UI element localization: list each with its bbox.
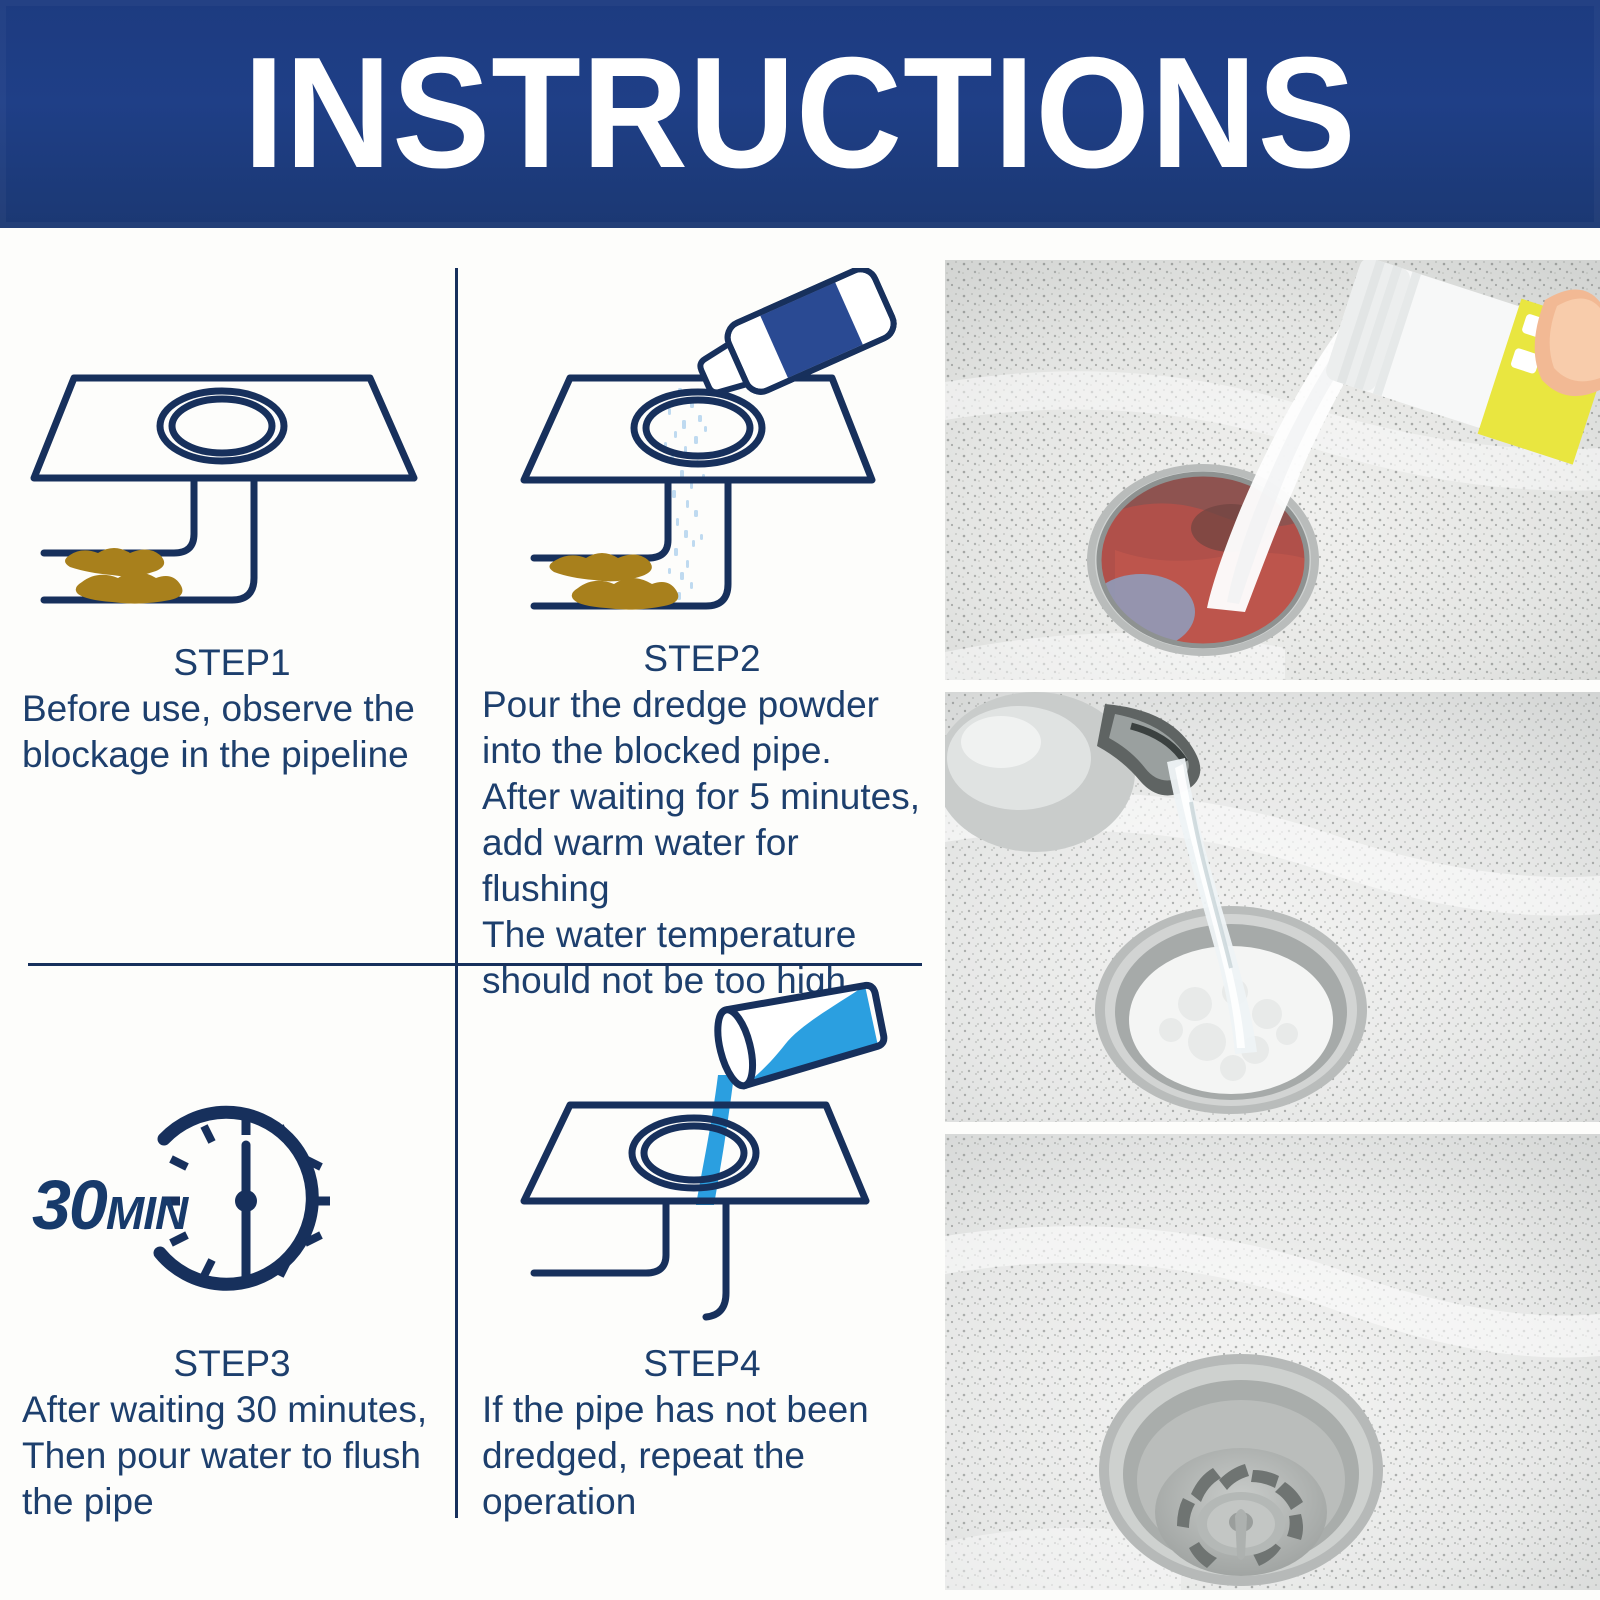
hand xyxy=(1535,289,1600,396)
grid-divider-vertical xyxy=(455,268,458,1518)
clock-duration-number: 30 xyxy=(32,1166,106,1244)
clock-duration-text: 30MIN xyxy=(32,1165,187,1245)
step4-body: If the pipe has not been dredged, repeat… xyxy=(482,1387,922,1525)
step1-label: STEP1 xyxy=(22,640,442,686)
dredge-powder-bottle xyxy=(690,268,899,412)
step4-diagram xyxy=(482,963,922,1323)
water-cup xyxy=(711,974,889,1089)
step-cell-2: STEP2 Pour the dredge powder into the bl… xyxy=(482,268,922,1004)
clock-duration-unit: MIN xyxy=(106,1187,187,1239)
photo-column xyxy=(945,260,1600,1590)
step2-diagram xyxy=(482,268,922,618)
photo-clean-drain xyxy=(945,1134,1600,1590)
page-title: INSTRUCTIONS xyxy=(56,34,1544,192)
step-cell-1: STEP1 Before use, observe the blockage i… xyxy=(22,338,442,778)
step3-label: STEP3 xyxy=(22,1341,442,1387)
photo-powder-pouring xyxy=(945,260,1600,680)
step3-diagram: 30MIN xyxy=(22,1073,442,1323)
step-cell-3: 30MIN STEP3 After waiting 30 minutes, Th… xyxy=(22,1073,442,1525)
step1-body: Before use, observe the blockage in the … xyxy=(22,686,442,778)
step2-label: STEP2 xyxy=(482,636,922,682)
photo-water-flush xyxy=(945,692,1600,1122)
step1-diagram xyxy=(22,338,442,618)
step-cell-4: STEP4 If the pipe has not been dredged, … xyxy=(482,963,922,1525)
instructions-infographic: INSTRUCTIONS xyxy=(0,0,1600,1600)
steps-grid: STEP1 Before use, observe the blockage i… xyxy=(0,228,930,1600)
step4-label: STEP4 xyxy=(482,1341,922,1387)
step2-body: Pour the dredge powder into the blocked … xyxy=(482,682,922,1004)
step3-body: After waiting 30 minutes, Then pour wate… xyxy=(22,1387,442,1525)
blockage-clump xyxy=(549,553,678,610)
header-banner: INSTRUCTIONS xyxy=(0,0,1600,228)
